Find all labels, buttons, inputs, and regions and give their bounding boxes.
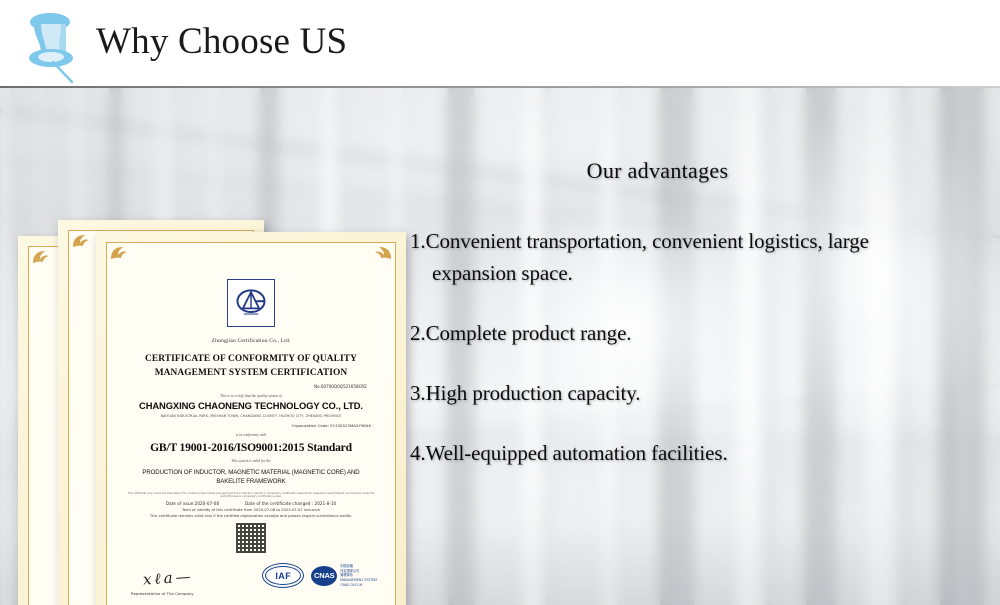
certificate-organization-code: Organization Code: 91330523MA2Y98XK [125, 423, 377, 428]
certificate-scope-line2: BAKELITE FRAMEWORK [125, 477, 377, 486]
signature-mark-icon: x ℓ 𝑎 — [142, 568, 191, 590]
page-title: Why Choose US [96, 20, 347, 63]
advantage-item-3: 3.High production capacity. [410, 378, 995, 410]
advantage-2-line1: Complete product range. [426, 321, 632, 345]
certificate-title-line1: CERTIFICATE OF CONFORMITY OF QUALITY [125, 353, 377, 367]
advantages-panel: Our advantages 1.Convenient transportati… [410, 158, 995, 498]
certificate-company-name: CHANGXING CHAONENG TECHNOLOGY CO., LTD. [125, 400, 377, 411]
certificate-scope: PRODUCTION OF INDUCTOR, MAGNETIC MATERIA… [125, 468, 377, 486]
certificate-issuer: Zhongjian Certification Co., Ltd. [125, 338, 377, 344]
certificate-scope-line1: PRODUCTION OF INDUCTOR, MAGNETIC MATERIA… [125, 468, 377, 477]
advantage-1-line2: expansion space. [410, 258, 995, 290]
certificate-signature-row: x ℓ 𝑎 — Representative of The Company IA… [125, 569, 377, 603]
page-header: Why Choose US [0, 0, 1000, 88]
advantage-item-4: 4.Well-equipped automation facilities. [410, 438, 995, 470]
certificate-certify-text: This is to certify that the quality syst… [125, 394, 377, 398]
cnas-mark-text: 中国合格 评定国家认可 管理体系 MANAGEMENT SYSTEM CNAS … [340, 564, 377, 587]
certificate-date-changed: Date of the certificate changed : 2021-8… [245, 501, 336, 506]
certificate-legal-note: This certificate only covers the sites l… [125, 492, 377, 499]
certificate-date-of-issue: Date of issue:2020-07-08 [166, 501, 219, 506]
advantage-4-number: 4. [410, 441, 426, 465]
iaf-mark-icon: IAF [262, 563, 304, 588]
advantage-3-number: 3. [410, 381, 426, 405]
ornament-corner-icon [31, 249, 61, 279]
zhongjian-certification-logo-icon [227, 279, 275, 327]
certificate-content: Zhongjian Certification Co., Ltd. CERTIF… [125, 257, 377, 605]
advantage-1-number: 1. [410, 229, 426, 253]
advantage-item-1: 1.Convenient transportation, convenient … [410, 226, 995, 290]
advantage-3-line1: High production capacity. [426, 381, 641, 405]
cnas-mark-icon: CNAS [311, 566, 337, 586]
certificate-valid-text: This system is valid for the [125, 459, 377, 463]
certificate-validity: Term of validity of this certificate fro… [125, 508, 377, 512]
certificate-title: CERTIFICATE OF CONFORMITY OF QUALITY MAN… [125, 353, 377, 380]
cnas-mark: CNAS 中国合格 评定国家认可 管理体系 MANAGEMENT SYSTEM … [311, 564, 377, 587]
advantage-4-line1: Well-equipped automation facilities. [426, 441, 728, 465]
certificate-company-address: BAIYUAN INDUSTRIAL PARK, MEISHAN TOWN, C… [125, 414, 377, 418]
certificate-number: No.00700Q0Q521658O5E [125, 384, 377, 389]
certificate-conformity-text: is in conformity with [125, 433, 377, 437]
accreditation-marks: IAF CNAS 中国合格 评定国家认可 管理体系 MANAGEMENT SYS… [262, 563, 377, 588]
pushpin-icon [14, 8, 88, 84]
certificate-standard: GB/T 19001-2016/ISO9001:2015 Standard [125, 441, 377, 454]
qr-code-icon [236, 523, 266, 553]
content-stage: 质量 兹证明下述组织的质量管理体系 签名 公司代表 认证 标志 [0, 88, 1000, 605]
certificate-dates: Date of issue:2020-07-08 Date of the cer… [125, 501, 377, 506]
certificate-title-line2: MANAGEMENT SYSTEM CERTIFICATION [125, 367, 377, 381]
certificate-signature-label: Representative of The Company [131, 591, 194, 596]
cnas-line-5: CNAS C001-M [340, 583, 377, 588]
certificate-surveillance-note: This certificate remains valid only if t… [125, 514, 377, 518]
advantages-heading: Our advantages [410, 158, 995, 184]
advantage-1-line1: Convenient transportation, convenient lo… [426, 229, 869, 253]
why-choose-us-slide: Why Choose US [0, 0, 1000, 605]
advantage-item-2: 2.Complete product range. [410, 318, 995, 350]
advantage-2-number: 2. [410, 321, 426, 345]
certificate-front: Zhongjian Certification Co., Ltd. CERTIF… [96, 232, 406, 605]
